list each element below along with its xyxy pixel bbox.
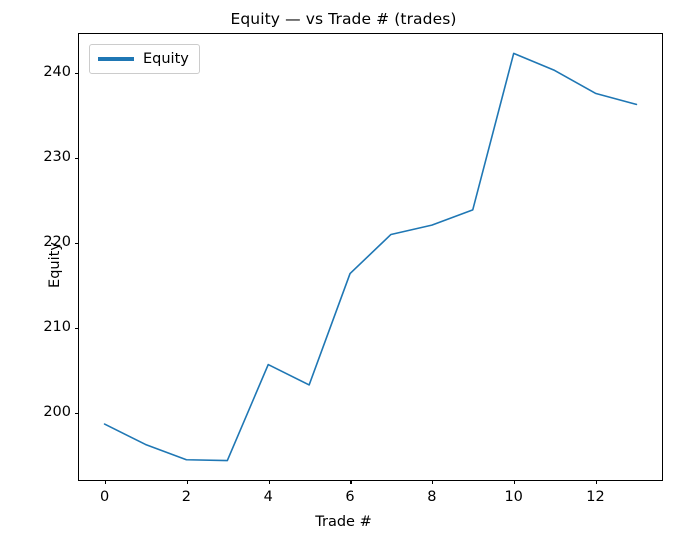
plot-area (78, 33, 663, 481)
x-tick-label: 2 (156, 490, 216, 505)
x-tick-label: 10 (484, 490, 544, 505)
x-tick-label: 6 (320, 490, 380, 505)
legend: Equity (89, 44, 200, 74)
y-axis-label: Equity (47, 205, 63, 325)
x-tick-label: 12 (566, 490, 626, 505)
chart-figure: Equity — vs Trade # (trades) 20021022023… (0, 0, 687, 546)
x-tick-labels: 024681012 (0, 490, 687, 510)
legend-label-equity: Equity (143, 52, 189, 67)
equity-line-series (105, 53, 637, 460)
chart-title: Equity — vs Trade # (trades) (0, 10, 687, 28)
y-tick-label: 200 (11, 405, 71, 420)
x-tick-label: 4 (238, 490, 298, 505)
x-tick-label: 0 (75, 490, 135, 505)
y-tick-label: 240 (11, 65, 71, 80)
x-tick-label: 8 (402, 490, 462, 505)
x-axis-label: Trade # (0, 514, 687, 530)
legend-line-swatch-equity (98, 57, 134, 60)
y-tick-label: 230 (11, 150, 71, 165)
